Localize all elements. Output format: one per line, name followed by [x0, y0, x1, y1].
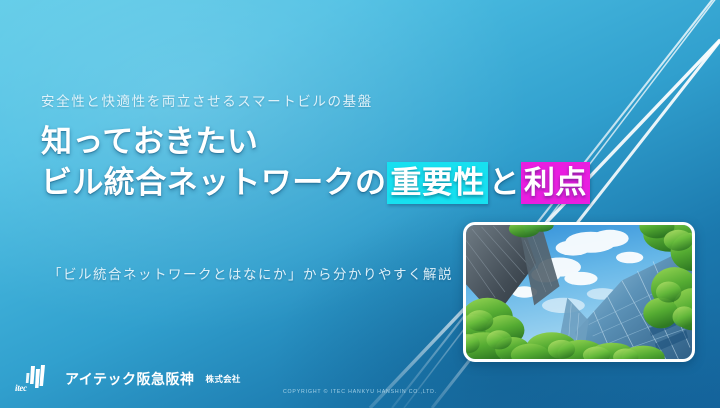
photo-inset-frame	[463, 222, 695, 362]
company-name: アイテック阪急阪神	[65, 369, 195, 389]
headline-line-1: 知っておきたい	[41, 122, 601, 162]
presentation-slide: 安全性と快適性を両立させるスマートビルの基盤 知っておきたい ビル統合ネットワー…	[0, 0, 720, 408]
headline-line-2: ビル統合ネットワークの重要性と利点	[41, 162, 601, 205]
photo-skyscrapers-from-below	[466, 225, 692, 359]
company-suffix: 株式会社	[206, 373, 241, 385]
headline-highlight-importance: 重要性	[387, 162, 487, 205]
headline-highlight-benefits: 利点	[521, 162, 590, 205]
copyright-notice: COPYRIGHT © ITEC HANKYU HANSHIN CO.,LTD.	[0, 389, 720, 395]
headline-line2-prefix: ビル統合ネットワークの	[41, 165, 386, 200]
slide-headline: 知っておきたい ビル統合ネットワークの重要性と利点	[41, 122, 601, 204]
slide-eyebrow: 安全性と快適性を両立させるスマートビルの基盤	[41, 90, 373, 110]
slide-subtitle: 「ビル統合ネットワークとはなにか」から分かりやすく解説	[48, 263, 453, 283]
headline-line2-middle: と	[489, 165, 520, 200]
